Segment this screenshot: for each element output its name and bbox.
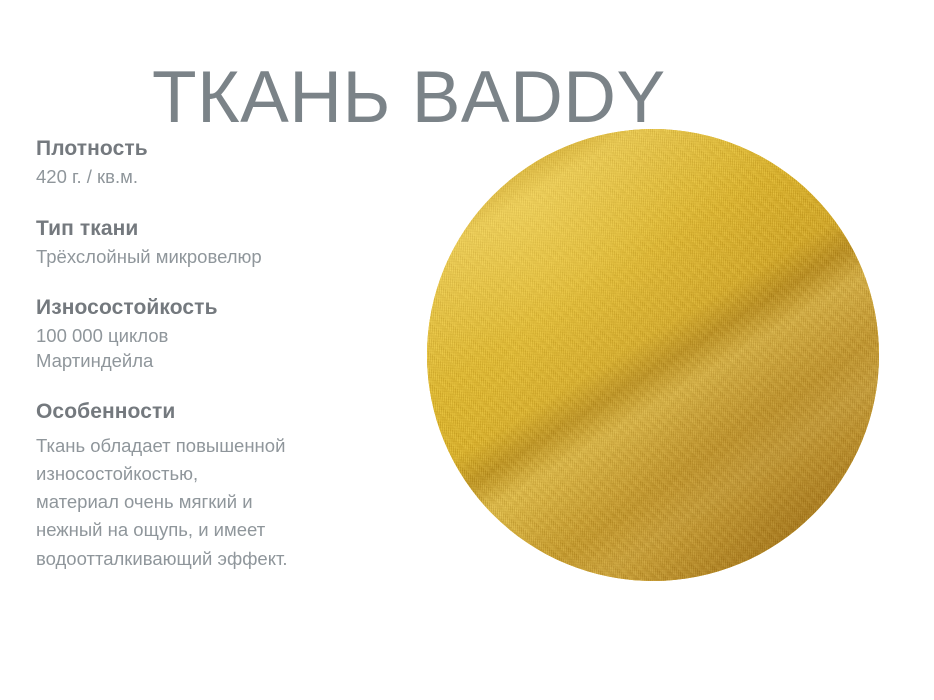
fabric-lighting-layer bbox=[427, 129, 879, 581]
spec-line: 100 000 циклов bbox=[36, 324, 396, 349]
fabric-circle-image bbox=[427, 129, 879, 581]
spec-line: износостойкостью, bbox=[36, 460, 396, 488]
spec-line: Трёхслойный микровелюр bbox=[36, 245, 396, 270]
spec-value-density: 420 г. / кв.м. bbox=[36, 165, 396, 190]
spec-value-durability: 100 000 циклов Мартиндейла bbox=[36, 324, 396, 373]
spec-block-fabric-type: Тип ткани Трёхслойный микровелюр bbox=[36, 216, 396, 270]
spec-line: водоотталкивающий эффект. bbox=[36, 545, 396, 573]
spec-block-durability: Износостойкость 100 000 циклов Мартиндей… bbox=[36, 295, 396, 373]
spec-heading-durability: Износостойкость bbox=[36, 295, 396, 321]
fabric-spec-slide: ТКАНЬ BADDY Плотность 420 г. / кв.м. Тип… bbox=[0, 0, 934, 700]
spec-heading-features: Особенности bbox=[36, 399, 396, 425]
spec-block-features: Особенности Ткань обладает повышенной из… bbox=[36, 399, 396, 573]
spec-list: Плотность 420 г. / кв.м. Тип ткани Трёхс… bbox=[36, 136, 396, 573]
spec-line: материал очень мягкий и bbox=[36, 488, 396, 516]
spec-line: Ткань обладает повышенной bbox=[36, 432, 396, 460]
spec-value-features: Ткань обладает повышенной износостойкост… bbox=[36, 432, 396, 573]
page-title: ТКАНЬ BADDY bbox=[152, 57, 666, 139]
spec-line: нежный на ощупь, и имеет bbox=[36, 516, 396, 544]
fabric-swatch bbox=[427, 129, 879, 581]
spec-line: Мартиндейла bbox=[36, 349, 396, 374]
spec-heading-fabric-type: Тип ткани bbox=[36, 216, 396, 242]
spec-heading-density: Плотность bbox=[36, 136, 396, 162]
spec-line: 420 г. / кв.м. bbox=[36, 165, 396, 190]
spec-block-density: Плотность 420 г. / кв.м. bbox=[36, 136, 396, 190]
spec-value-fabric-type: Трёхслойный микровелюр bbox=[36, 245, 396, 270]
